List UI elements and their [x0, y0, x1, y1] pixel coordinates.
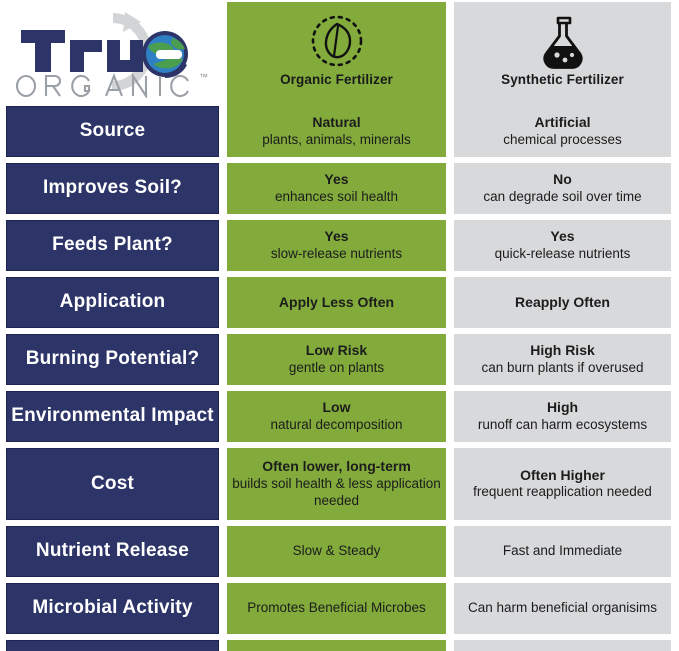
row-label-text: Environmental Impact	[11, 406, 214, 427]
row-label: Improves Soil?	[6, 163, 219, 214]
organic-value-sub: plants, animals, minerals	[262, 132, 411, 149]
synthetic-value-sub: chemical processes	[503, 132, 622, 149]
organic-value-sub: Promotes Beneficial Microbes	[247, 600, 426, 617]
organic-value-main: Apply Less Often	[279, 294, 394, 312]
row-label-text: Nutrient Release	[36, 541, 189, 562]
synthetic-value-main: Artificial	[534, 114, 590, 132]
organic-value-cell: Yesslow-release nutrients	[227, 220, 446, 271]
header-row: ™ Organic Fertilizer	[0, 2, 679, 106]
trademark-symbol: ™	[199, 72, 208, 82]
row-label-text: Microbial Activity	[32, 598, 192, 619]
organic-value-sub: gentle on plants	[289, 360, 384, 377]
organic-column-label: Organic Fertilizer	[280, 72, 393, 93]
synthetic-value-sub: quick-release nutrients	[495, 246, 631, 263]
row-label-text: Burning Potential?	[26, 349, 200, 370]
synthetic-value-cell: Can harm beneficial organisims	[454, 583, 671, 634]
organic-value-cell: Apply Less Often	[227, 277, 446, 328]
row-label-text: Application	[60, 292, 166, 313]
row-label: Application	[6, 277, 219, 328]
synthetic-value-sub: runoff can harm ecosystems	[478, 417, 647, 434]
synthetic-value-main: Reapply Often	[515, 294, 610, 312]
synthetic-column-label: Synthetic Fertilizer	[501, 72, 624, 93]
organic-value-cell: Slow & Steady	[227, 526, 446, 577]
brand-logo: ™	[6, 2, 219, 106]
row-label: Microbial Activity	[6, 583, 219, 634]
synthetic-value-cell: Highrunoff can harm ecosystems	[454, 391, 671, 442]
row-label: Feeds Plant?	[6, 220, 219, 271]
synthetic-value-main: High	[547, 399, 578, 417]
table-row: LongevityLong-lasting soil benefitsShort…	[0, 640, 679, 651]
row-label: Cost	[6, 448, 219, 520]
table-row: ApplicationApply Less OftenReapply Often	[0, 277, 679, 328]
row-label: Source	[6, 106, 219, 157]
row-label: Longevity	[6, 640, 219, 651]
comparison-infographic: ™ Organic Fertilizer	[0, 0, 679, 651]
table-row: Improves Soil?Yesenhances soil healthNoc…	[0, 163, 679, 214]
organic-value-sub: Slow & Steady	[293, 543, 381, 560]
organic-value-cell: Often lower, long-termbuilds soil health…	[227, 448, 446, 520]
synthetic-value-cell: Yesquick-release nutrients	[454, 220, 671, 271]
organic-value-cell: Naturalplants, animals, minerals	[227, 106, 446, 157]
synthetic-value-sub: frequent reapplication needed	[473, 484, 652, 501]
table-body: SourceNaturalplants, animals, mineralsAr…	[0, 106, 679, 651]
synthetic-value-cell: Nocan degrade soil over time	[454, 163, 671, 214]
synthetic-value-main: Yes	[550, 228, 574, 246]
organic-value-main: Natural	[312, 114, 360, 132]
organic-value-main: Often lower, long-term	[262, 458, 411, 476]
organic-value-cell: Promotes Beneficial Microbes	[227, 583, 446, 634]
organic-value-cell: Long-lasting soil benefits	[227, 640, 446, 651]
chemistry-flask-icon	[534, 10, 592, 72]
table-row: Environmental ImpactLownatural decomposi…	[0, 391, 679, 442]
organic-value-cell: Low Riskgentle on plants	[227, 334, 446, 385]
synthetic-column-header: Synthetic Fertilizer	[454, 2, 671, 106]
table-row: SourceNaturalplants, animals, mineralsAr…	[0, 106, 679, 157]
leaf-in-dashed-circle-icon	[308, 10, 366, 72]
synthetic-value-sub: Can harm beneficial organisims	[468, 600, 657, 617]
table-row: CostOften lower, long-termbuilds soil he…	[0, 448, 679, 520]
organic-value-main: Yes	[324, 228, 348, 246]
table-row: Microbial ActivityPromotes Beneficial Mi…	[0, 583, 679, 634]
synthetic-value-sub: can burn plants if overused	[481, 360, 643, 377]
synthetic-value-cell: Fast and Immediate	[454, 526, 671, 577]
synthetic-value-main: High Risk	[530, 342, 595, 360]
table-row: Feeds Plant?Yesslow-release nutrientsYes…	[0, 220, 679, 271]
organic-value-sub: slow-release nutrients	[271, 246, 402, 263]
synthetic-value-sub: can degrade soil over time	[483, 189, 641, 206]
synthetic-value-cell: Reapply Often	[454, 277, 671, 328]
synthetic-value-cell: Often Higherfrequent reapplication neede…	[454, 448, 671, 520]
true-organic-logo-icon: ™	[13, 10, 213, 98]
synthetic-value-cell: Short-term plant boost	[454, 640, 671, 651]
organic-value-main: Low Risk	[306, 342, 367, 360]
organic-value-cell: Lownatural decomposition	[227, 391, 446, 442]
row-label-text: Source	[80, 121, 146, 142]
synthetic-value-cell: Artificialchemical processes	[454, 106, 671, 157]
organic-value-sub: builds soil health & less application ne…	[227, 476, 446, 510]
synthetic-value-sub: Fast and Immediate	[503, 543, 622, 560]
organic-value-main: Yes	[324, 171, 348, 189]
row-label-text: Improves Soil?	[43, 178, 182, 199]
row-label-text: Feeds Plant?	[52, 235, 173, 256]
synthetic-value-cell: High Riskcan burn plants if overused	[454, 334, 671, 385]
organic-value-cell: Yesenhances soil health	[227, 163, 446, 214]
organic-column-header: Organic Fertilizer	[227, 2, 446, 106]
row-label: Environmental Impact	[6, 391, 219, 442]
synthetic-value-main: Often Higher	[520, 467, 605, 485]
row-label-text: Cost	[91, 474, 134, 495]
row-label: Burning Potential?	[6, 334, 219, 385]
organic-value-main: Low	[323, 399, 351, 417]
organic-value-sub: enhances soil health	[275, 189, 398, 206]
table-row: Burning Potential?Low Riskgentle on plan…	[0, 334, 679, 385]
table-row: Nutrient ReleaseSlow & SteadyFast and Im…	[0, 526, 679, 577]
synthetic-value-main: No	[553, 171, 572, 189]
row-label: Nutrient Release	[6, 526, 219, 577]
organic-value-sub: natural decomposition	[270, 417, 402, 434]
